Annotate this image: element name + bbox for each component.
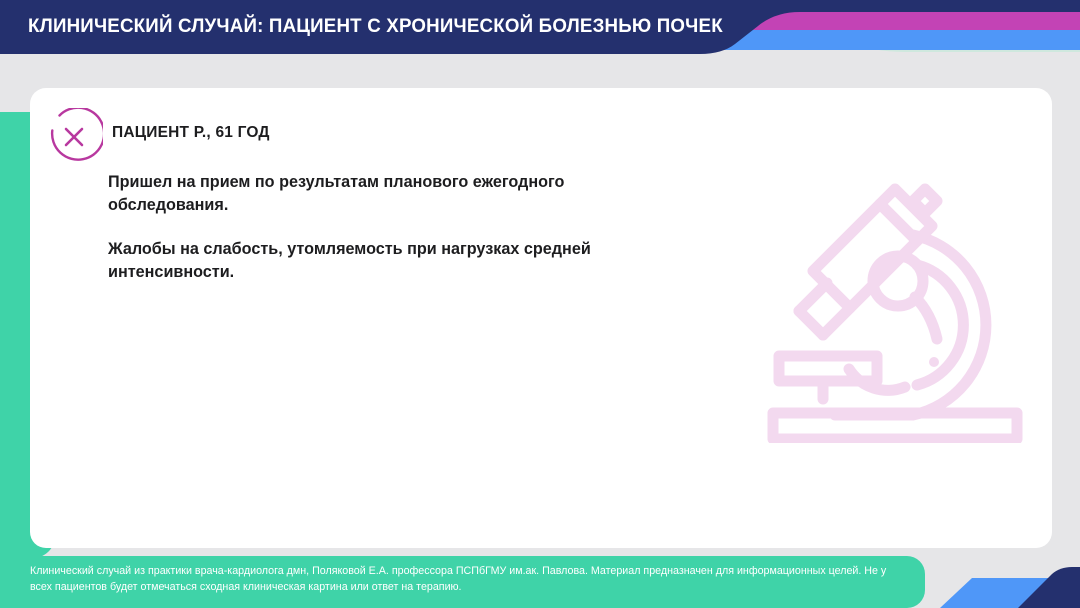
patient-heading: ПАЦИЕНТ Р., 61 ГОД [112, 124, 270, 142]
x-circle-icon [45, 108, 103, 166]
case-description: Пришел на прием по результатам планового… [108, 171, 628, 283]
microscope-icon [765, 173, 1025, 443]
content-card: ПАЦИЕНТ Р., 61 ГОД Пришел на прием по ре… [30, 88, 1052, 548]
case-paragraph-1: Пришел на прием по результатам планового… [108, 171, 628, 216]
corner-decorative-shapes [900, 548, 1080, 608]
slide-canvas: КЛИНИЧЕСКИЙ СЛУЧАЙ: ПАЦИЕНТ С ХРОНИЧЕСКО… [0, 0, 1080, 608]
page-title: КЛИНИЧЕСКИЙ СЛУЧАЙ: ПАЦИЕНТ С ХРОНИЧЕСКО… [28, 0, 723, 52]
slide-header: КЛИНИЧЕСКИЙ СЛУЧАЙ: ПАЦИЕНТ С ХРОНИЧЕСКО… [0, 0, 1080, 60]
footer-disclaimer: Клинический случай из практики врача-кар… [30, 564, 895, 595]
case-paragraph-2: Жалобы на слабость, утомляемость при наг… [108, 238, 628, 283]
